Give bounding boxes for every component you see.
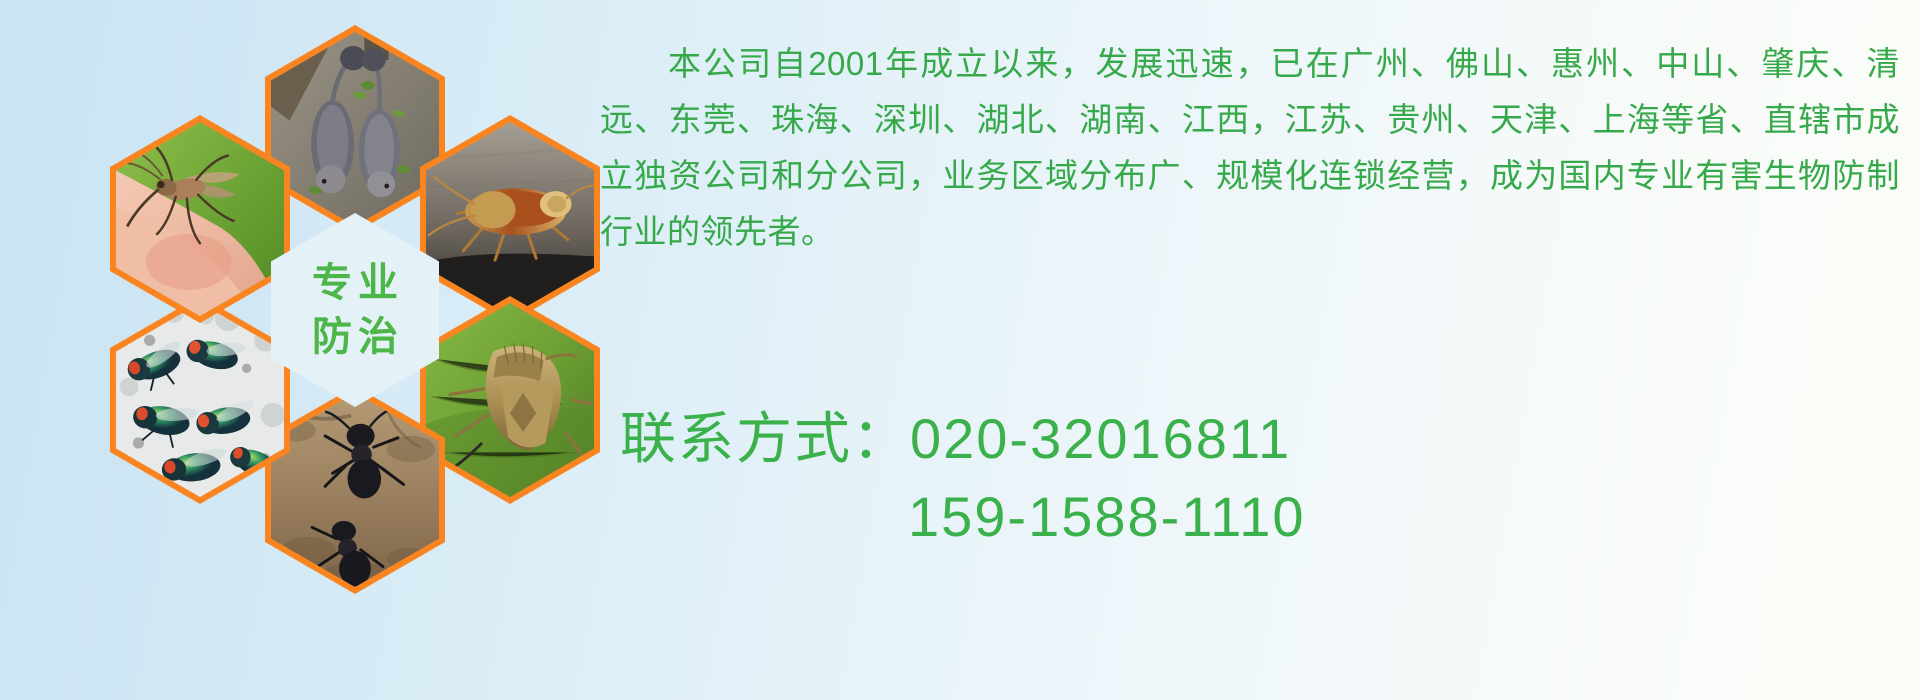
contact-phone-primary[interactable]: 联系方式：020-32016811 (620, 400, 1910, 478)
contact-phone-secondary[interactable]: 159-1588-1110 (620, 478, 1910, 556)
hex-cell-ant (265, 386, 445, 594)
hex-cell-flies (110, 296, 290, 504)
hex-cell-rodents (265, 25, 445, 233)
contact-block: 联系方式：020-32016811 159-1588-1110 (620, 400, 1910, 556)
company-description-paragraph: 本公司自2001年成立以来，发展迅速，已在广州、佛山、惠州、中山、肇庆、清远、东… (600, 36, 1900, 260)
logo-line-1: 专业 (306, 256, 404, 310)
logo-line-2: 防治 (306, 310, 404, 364)
hex-cell-cockroach (420, 115, 600, 323)
hex-cell-stinkbug (420, 296, 600, 504)
honeycomb-image-collage: 专业 防治 (95, 0, 615, 585)
hex-cell-logo: 专业 防治 (265, 206, 445, 414)
hex-cell-mosquito (110, 115, 290, 323)
